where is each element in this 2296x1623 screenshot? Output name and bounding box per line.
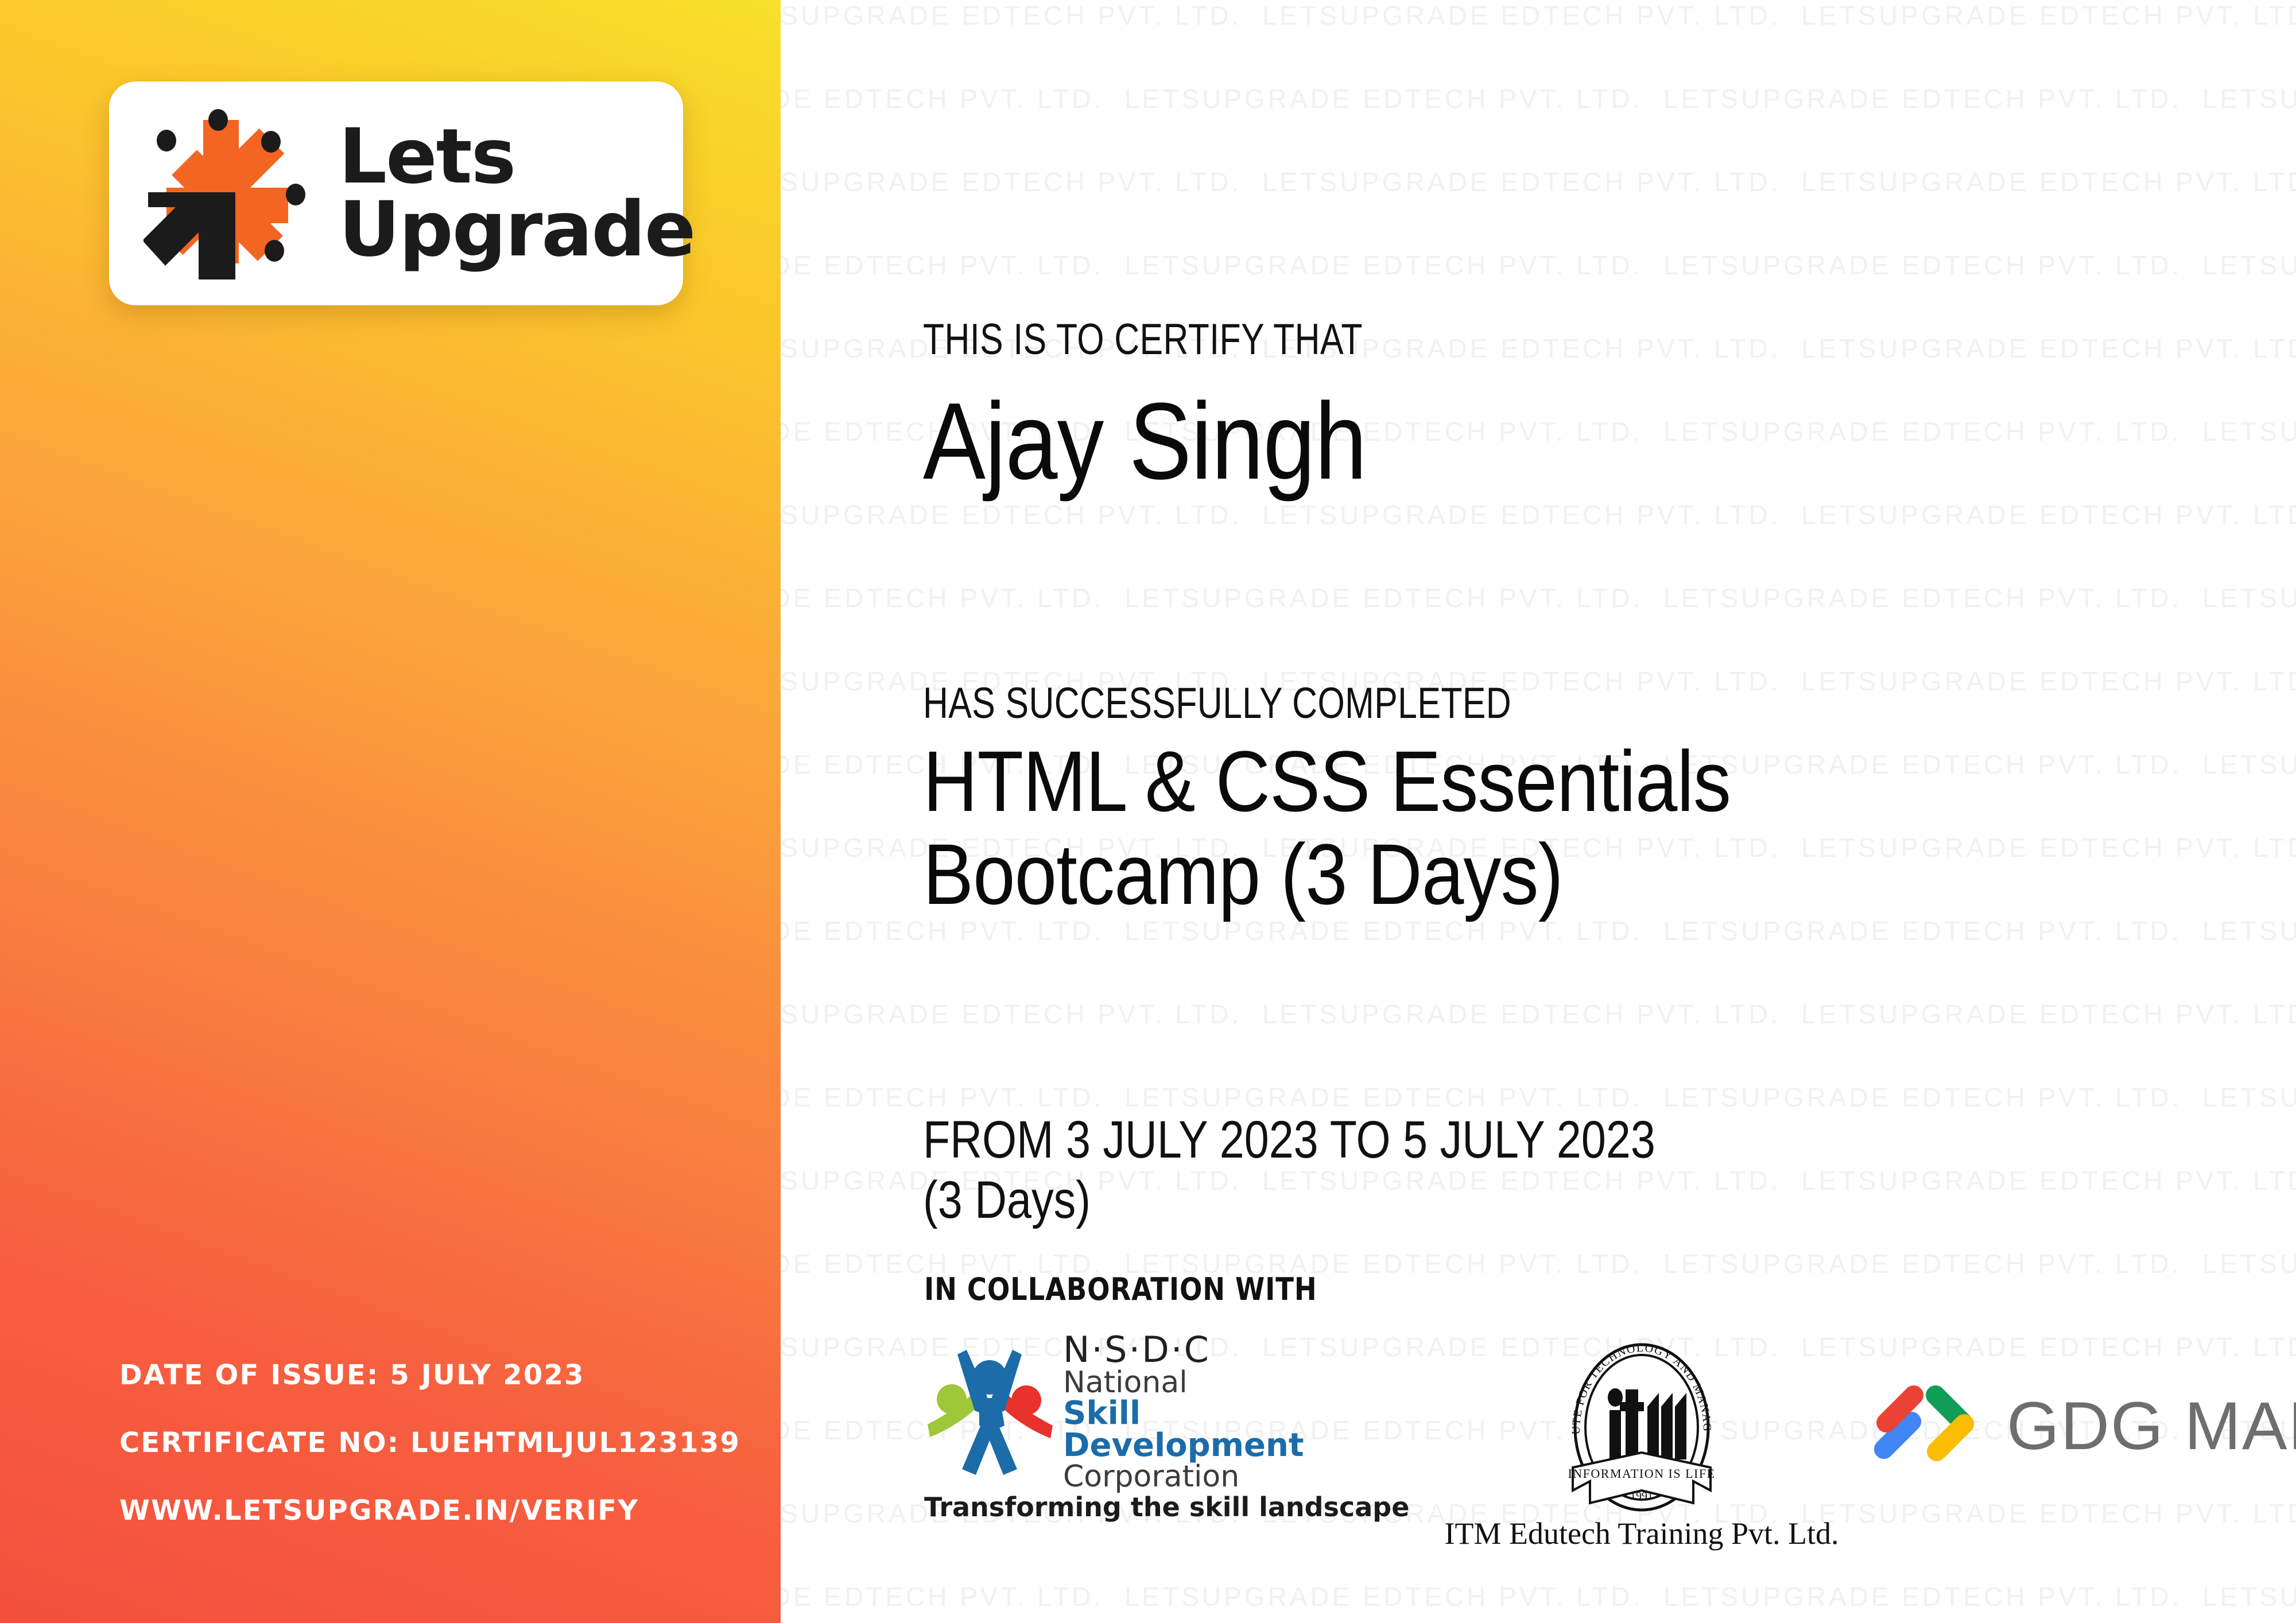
brand-name-line2: Upgrade (339, 193, 695, 266)
gdg-chevron-logo (1871, 1380, 1986, 1472)
nsdc-line2: Skill Development (1063, 1397, 1326, 1462)
svg-text:• 1991 •: • 1991 • (1623, 1490, 1660, 1502)
certificate-page: Lets Upgrade DATE OF ISSUE: 5 JULY 2023 … (0, 0, 2296, 1623)
collaboration-label: IN COLLABORATION WITH (924, 1271, 1317, 1307)
certify-label: THIS IS TO CERTIFY THAT (923, 314, 1363, 364)
nsdc-tagline: Transforming the skill landscape (924, 1492, 1326, 1523)
completed-label: HAS SUCCESSFULLY COMPLETED (923, 678, 1511, 728)
certificate-content: THIS IS TO CERTIFY THAT Ajay Singh HAS S… (781, 0, 2296, 1623)
date-of-issue: DATE OF ISSUE: 5 JULY 2023 (119, 1359, 728, 1391)
verify-url[interactable]: WWW.LETSUPGRADE.IN/VERIFY (119, 1494, 728, 1527)
partner-nsdc: N·S·D·C National Skill Development Corpo… (924, 1340, 1326, 1523)
nsdc-acronym: N·S·D·C (1063, 1332, 1326, 1368)
content-panel: LETSUPGRADE EDTECH PVT. LTD. LETSUPGRADE… (781, 0, 2296, 1623)
left-gradient-panel: Lets Upgrade DATE OF ISSUE: 5 JULY 2023 … (0, 0, 781, 1623)
brand-logo-card: Lets Upgrade (109, 81, 683, 305)
certificate-number: CERTIFICATE NO: LUEHTMLJUL123139 (119, 1427, 728, 1459)
brand-wordmark: Lets Upgrade (339, 121, 695, 266)
course-title: HTML & CSS Essentials Bootcamp (3 Days) (923, 735, 1883, 921)
svg-text:INFORMATION IS LIFE: INFORMATION IS LIFE (1568, 1466, 1715, 1481)
nsdc-line1: National (1063, 1368, 1326, 1397)
letsupgrade-asterisk-arrow-logo (143, 107, 316, 279)
recipient-name: Ajay Singh (923, 379, 1367, 504)
partner-logos-row: N·S·D·C National Skill Development Corpo… (924, 1340, 2262, 1570)
itm-caption: ITM Edutech Training Pvt. Ltd. (1441, 1516, 1843, 1551)
partner-gdg: GDG MAD (1871, 1340, 2273, 1512)
nsdc-line3: Corporation (1063, 1462, 1326, 1492)
gdg-label: GDG MAD (2007, 1387, 2296, 1465)
nsdc-three-figures-logo (924, 1345, 1057, 1478)
brand-name-line1: Lets (339, 121, 695, 193)
left-panel-footer: DATE OF ISSUE: 5 JULY 2023 CERTIFICATE N… (119, 1359, 728, 1527)
partner-itm: INSTITUTE FOR TECHNOLOGY AND MANAGEMENT (1441, 1340, 1843, 1551)
course-duration: (3 Days) (923, 1171, 1091, 1230)
course-date-range: FROM 3 JULY 2023 TO 5 JULY 2023 (923, 1111, 1655, 1170)
itm-oval-seal: INSTITUTE FOR TECHNOLOGY AND MANAGEMENT (1556, 1340, 1728, 1512)
